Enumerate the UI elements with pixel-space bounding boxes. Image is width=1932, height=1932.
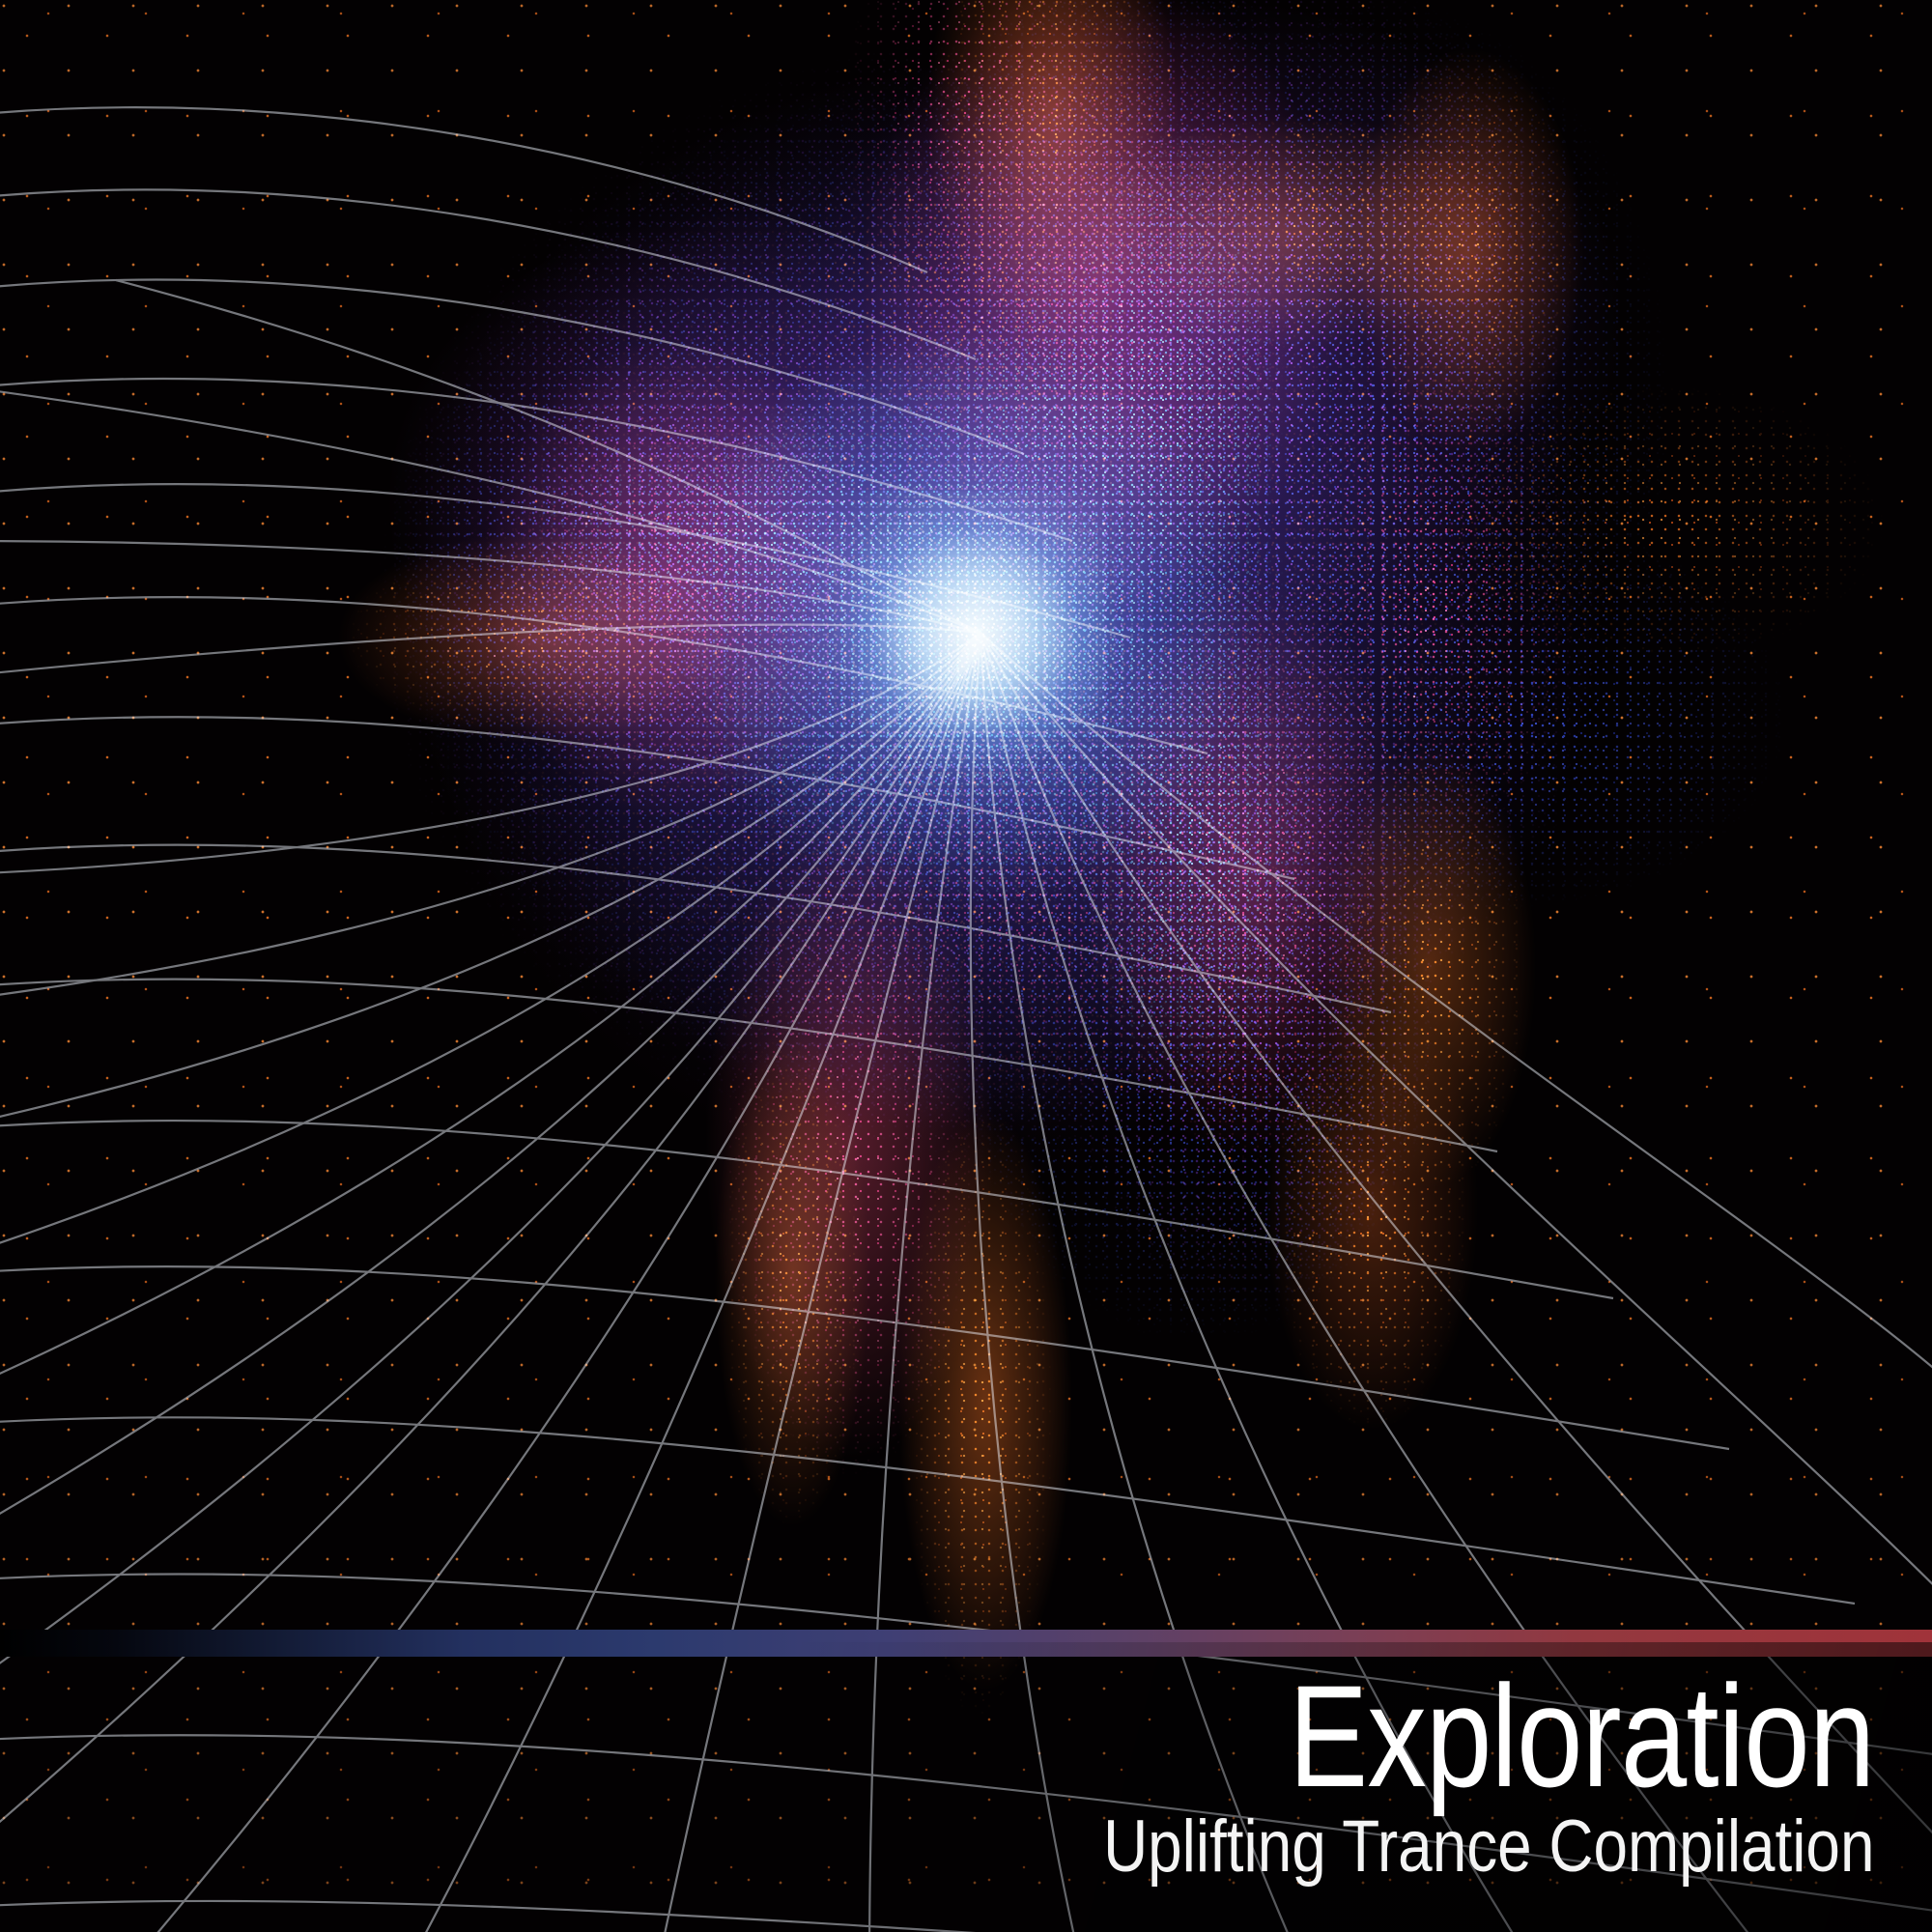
accent-gradient-bar (0, 1630, 1932, 1657)
title-block: Exploration Uplifting Trance Compilation (956, 1669, 1874, 1886)
album-subtitle: Uplifting Trance Compilation (1103, 1808, 1874, 1886)
album-cover: Exploration Uplifting Trance Compilation (0, 0, 1932, 1932)
album-title: Exploration (1122, 1669, 1874, 1803)
